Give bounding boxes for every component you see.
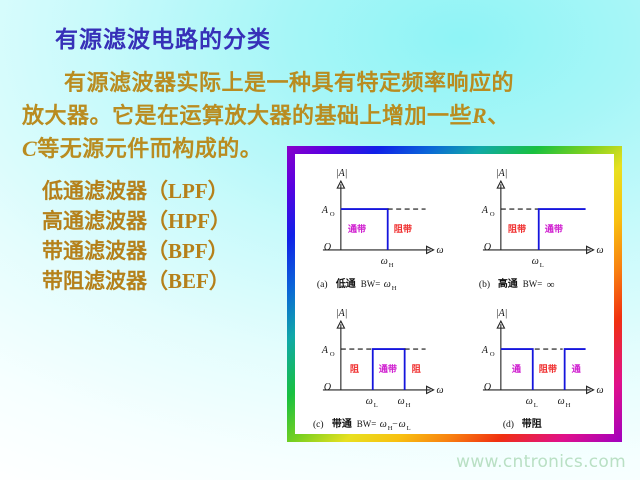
band-label-pass-b: 通带	[544, 223, 562, 234]
level-sub-d: O	[489, 351, 494, 358]
filter-name-hpf: 高通滤波器	[42, 209, 147, 233]
filter-name-bef: 带阻滤波器	[42, 269, 147, 293]
tick-sym-c-1: ω	[398, 396, 405, 407]
filter-abbr-bpf: BPF	[168, 239, 208, 263]
filter-type-list: 低通滤波器（LPF） 高通滤波器（HPF） 带通滤波器（BPF） 带阻滤波器（B…	[42, 176, 231, 296]
filter-name-lpf: 低通滤波器	[42, 179, 147, 203]
band-label-stop-d: 阻带	[538, 363, 556, 374]
caption-tag-a: (a)	[317, 279, 328, 290]
band-label-stop-b: 阻带	[507, 223, 525, 234]
band-label-stop-c-1: 阻	[350, 364, 359, 374]
level-label-a: A	[321, 205, 329, 216]
caption-bw-sym-c: ω	[380, 419, 387, 430]
band-label-pass-d-1: 通	[511, 363, 521, 374]
caption-bw-c: BW=	[357, 419, 377, 429]
caption-bw-sym-a: ω	[384, 279, 391, 290]
caption-bw-sym-b: ∞	[546, 279, 554, 291]
caption-cn-d: 带阻	[521, 417, 541, 430]
list-item-bpf: 带通滤波器（BPF）	[42, 236, 231, 266]
tick-sym-a-0: ω	[381, 256, 388, 267]
level-label-b: A	[480, 205, 488, 216]
yaxis-label-d: |A|	[495, 308, 507, 319]
paren-left-bef: （	[147, 269, 168, 293]
paren-left-bpf: （	[147, 239, 168, 263]
list-item-bef: 带阻滤波器（BEF）	[42, 266, 231, 296]
caption-bw-sub-a: H	[392, 285, 397, 292]
paragraph-text-1: 有源滤波器实际上是一种具有特定频率响应的	[64, 70, 514, 95]
caption-tag-d: (d)	[502, 419, 513, 430]
tick-sym-d-0: ω	[525, 396, 532, 407]
band-label-pass-d-2: 通	[571, 363, 581, 374]
filter-abbr-lpf: LPF	[168, 179, 208, 203]
caption-cn-b: 高通	[497, 277, 517, 290]
level-sub-b: O	[489, 211, 494, 218]
site-watermark: www.cntronics.com	[456, 452, 626, 472]
band-label-stop-a: 阻带	[394, 223, 412, 234]
figure-inner-panel: |A| A O O ω 通带 阻带 ω H (a) 低通	[295, 154, 614, 434]
tick-sym-d-1: ω	[557, 396, 564, 407]
tick-sub-c-1: H	[406, 402, 411, 409]
yaxis-label-b: |A|	[495, 168, 507, 179]
xaxis-label-b: ω	[596, 245, 603, 256]
caption-bw-b: BW=	[522, 279, 542, 289]
caption-cn-c: 带通	[332, 417, 352, 430]
origin-label-d: O	[483, 382, 490, 393]
paren-left-lpf: （	[147, 179, 168, 203]
caption-cn-a: 低通	[335, 277, 356, 290]
yaxis-label-a: |A|	[336, 168, 348, 179]
caption-bw-a: BW=	[361, 279, 381, 289]
paren-right-bef: ）	[209, 269, 230, 293]
level-label-d: A	[480, 345, 488, 356]
band-label-stop-c-2: 阻	[412, 364, 421, 374]
paragraph-text-2a: 放大器。它是在运算放大器的基础上增加一些	[22, 103, 472, 128]
tick-sym-b-0: ω	[531, 256, 538, 267]
chart-panel-highpass: |A| A O O ω 阻带 通带 ω L (b) 高通	[455, 154, 615, 294]
paragraph-line-1: 有源滤波器实际上是一种具有特定频率响应的	[22, 66, 597, 99]
origin-label-a: O	[324, 242, 331, 253]
band-label-pass-a: 通带	[348, 223, 366, 234]
chart-panel-lowpass: |A| A O O ω 通带 阻带 ω H (a) 低通	[295, 154, 455, 294]
tick-sub-d-0: L	[533, 402, 537, 409]
paren-right-hpf: ）	[210, 209, 231, 233]
symbol-R: R	[472, 103, 487, 128]
filter-abbr-bef: BEF	[168, 269, 209, 293]
list-item-hpf: 高通滤波器（HPF）	[42, 206, 231, 236]
origin-label-c: O	[324, 382, 331, 393]
symbol-C: C	[22, 136, 37, 161]
xaxis-label-a: ω	[437, 245, 444, 256]
list-item-lpf: 低通滤波器（LPF）	[42, 176, 231, 206]
caption-bw-sub2-c: L	[407, 425, 411, 432]
xaxis-label-d: ω	[596, 385, 603, 396]
paragraph-line-2: 放大器。它是在运算放大器的基础上增加一些R、	[22, 99, 597, 132]
chart-panel-bandstop: |A| A O O ω 通 阻带 通 ω L	[455, 294, 615, 434]
paragraph-text-2b: 、	[487, 103, 510, 128]
filter-abbr-hpf: HPF	[168, 209, 210, 233]
level-sub-a: O	[330, 211, 335, 218]
level-label-c: A	[321, 345, 329, 356]
paren-right-lpf: ）	[208, 179, 229, 203]
paren-left-hpf: （	[147, 209, 168, 233]
paragraph-text-3b: 等无源元件而构成的。	[37, 136, 262, 161]
slide-canvas: 有源滤波电路的分类 有源滤波器实际上是一种具有特定频率响应的 放大器。它是在运算…	[0, 0, 640, 480]
tick-sub-a-0: H	[389, 262, 394, 269]
origin-label-b: O	[483, 242, 490, 253]
tick-sub-c-0: L	[374, 402, 378, 409]
tick-sub-b-0: L	[539, 262, 543, 269]
caption-tag-c: (c)	[313, 419, 324, 430]
paren-right-bpf: ）	[208, 239, 229, 263]
chart-panel-bandpass: |A| A O O ω 阻 通带 阻 ω L	[295, 294, 455, 434]
tick-sym-c-0: ω	[366, 396, 373, 407]
filter-response-figure: |A| A O O ω 通带 阻带 ω H (a) 低通	[287, 146, 622, 442]
band-label-pass-c: 通带	[379, 363, 397, 374]
tick-sub-d-1: H	[565, 402, 570, 409]
page-title: 有源滤波电路的分类	[55, 20, 271, 54]
caption-tag-b: (b)	[478, 279, 489, 290]
caption-bw-sym2-c: ω	[399, 419, 406, 430]
caption-bw-op-c: –	[392, 418, 398, 428]
filter-name-bpf: 带通滤波器	[42, 239, 147, 263]
yaxis-label-c: |A|	[336, 308, 348, 319]
level-sub-c: O	[330, 351, 335, 358]
xaxis-label-c: ω	[437, 385, 444, 396]
